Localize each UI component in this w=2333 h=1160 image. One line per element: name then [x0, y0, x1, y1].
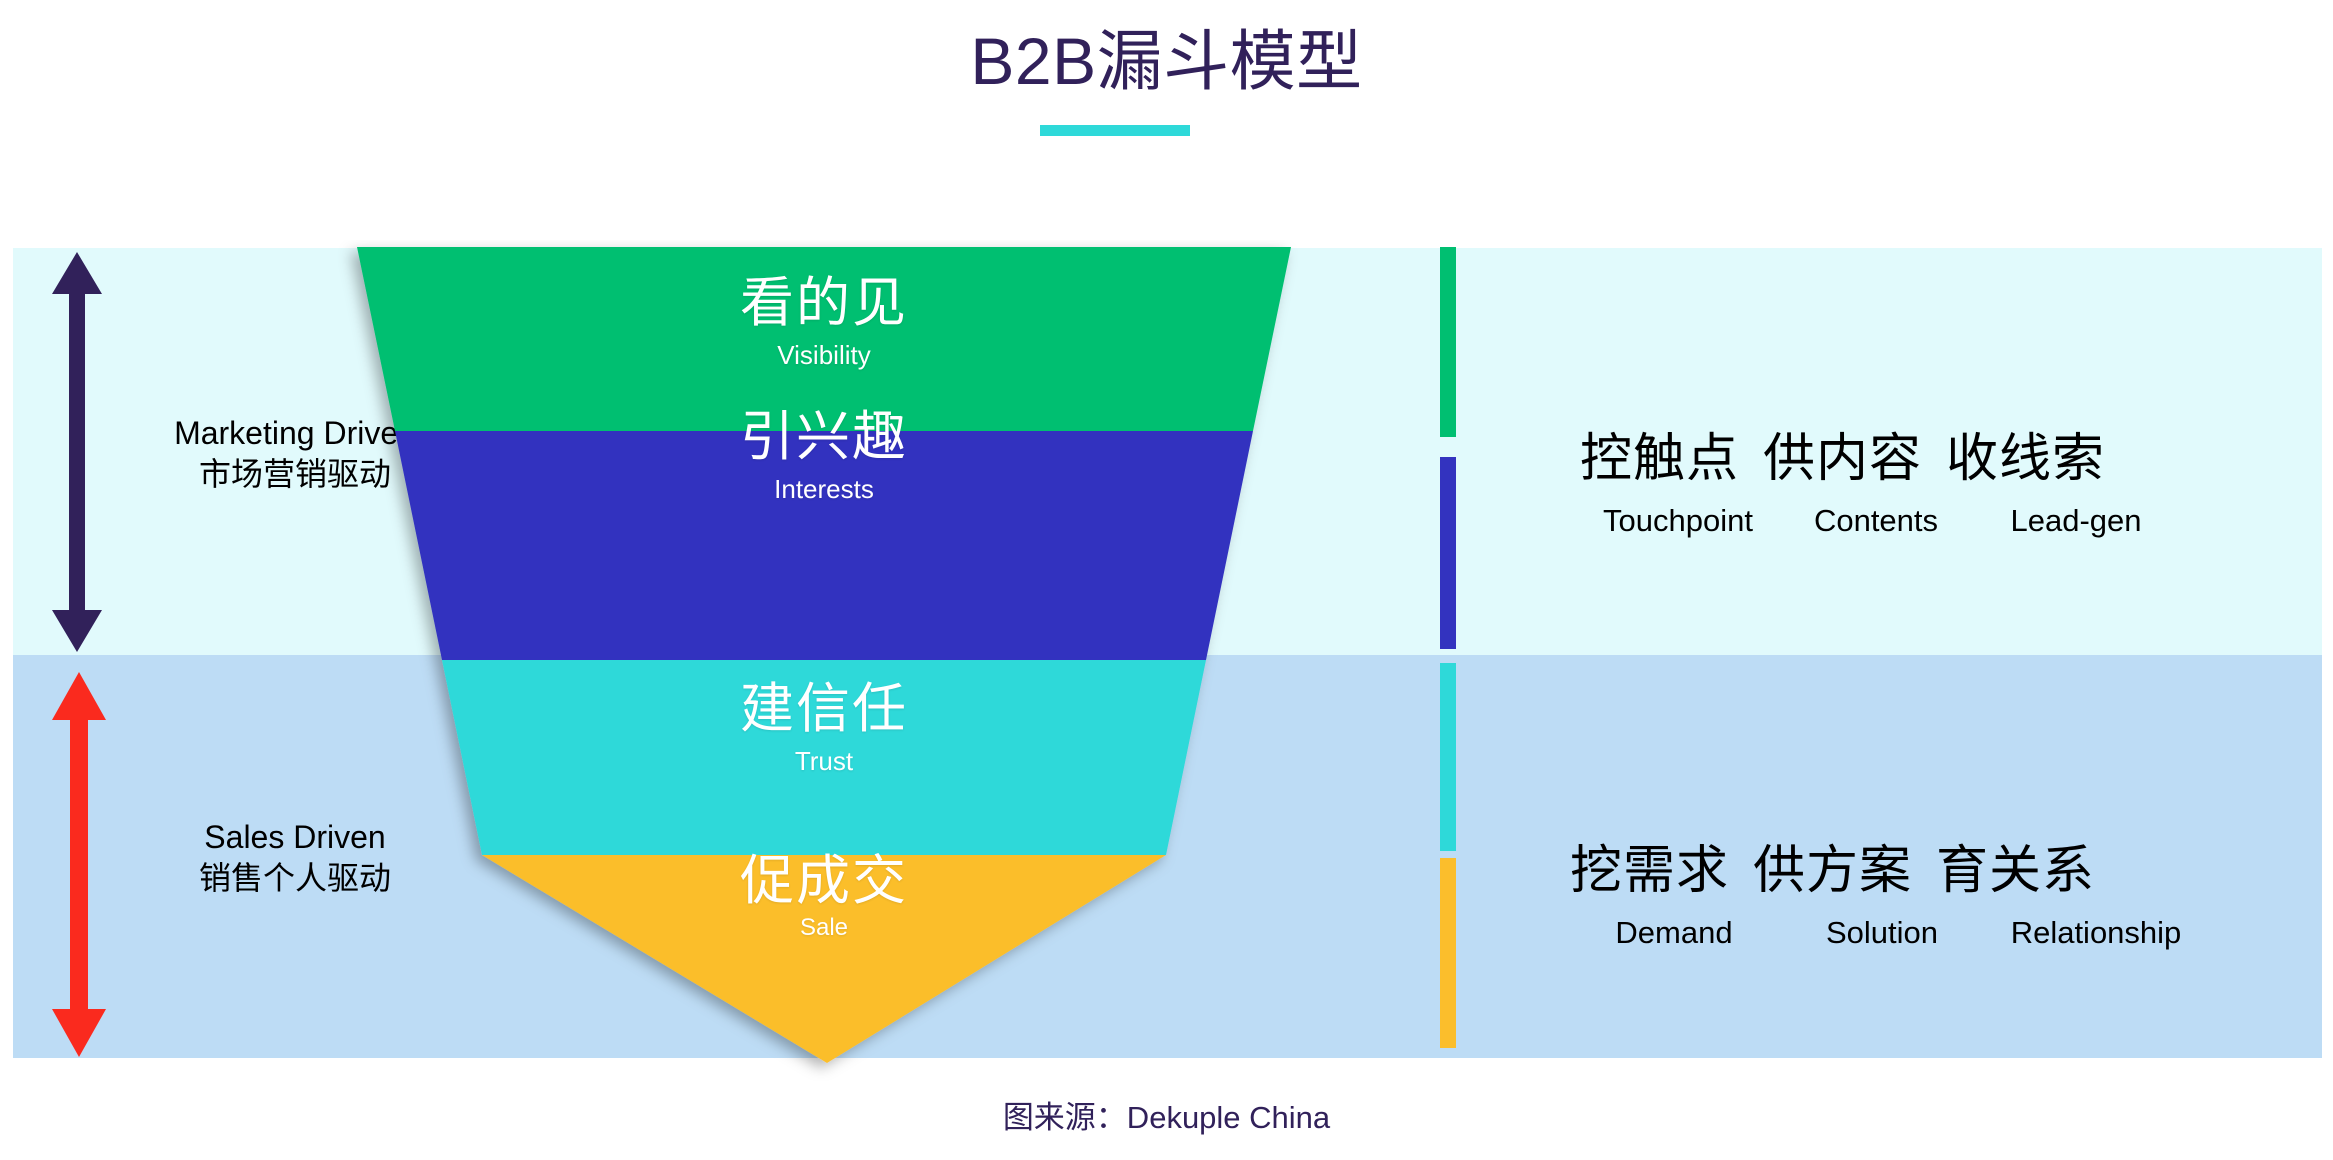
source-caption: 图来源：Dekuple China: [0, 1092, 2333, 1137]
marketing-actions-group: 控触点 供内容 收线索 Touchpoint Contents Lead-gen: [1580, 416, 2280, 539]
funnel-label-interests-en: Interests: [357, 475, 1291, 504]
sales-action-cn-3: 育关系: [1936, 828, 2095, 903]
sales-actions-cn-row: 挖需求 供方案 育关系: [1570, 828, 2290, 903]
color-key-bar-sale: [1440, 858, 1456, 1048]
color-key-bar-visibility: [1440, 247, 1456, 437]
funnel-label-visibility-cn: 看的见: [357, 274, 1291, 333]
funnel-label-sale-en: Sale: [357, 915, 1291, 941]
funnel-label-visibility-en: Visibility: [357, 341, 1291, 370]
color-key-bar-trust: [1440, 663, 1456, 851]
color-key-bar-interests: [1440, 457, 1456, 649]
marketing-actions-en-row: Touchpoint Contents Lead-gen: [1580, 503, 2280, 539]
sales-action-en-1: Demand: [1570, 915, 1778, 951]
page-title: B2B漏斗模型: [0, 8, 2333, 104]
funnel-label-trust-en: Trust: [357, 747, 1291, 776]
marketing-action-en-1: Touchpoint: [1580, 503, 1776, 539]
funnel-diagram-canvas: B2B漏斗模型 Marketing Driven 市场营销驱动 Sales Dr…: [0, 0, 2333, 1160]
title-underline-accent: [1040, 125, 1190, 136]
sales-actions-group: 挖需求 供方案 育关系 Demand Solution Relationship: [1570, 828, 2290, 951]
funnel-label-interests-cn: 引兴趣: [357, 408, 1291, 467]
sales-action-cn-2: 供方案: [1753, 828, 1912, 903]
marketing-actions-cn-row: 控触点 供内容 收线索: [1580, 416, 2280, 491]
sales-actions-en-row: Demand Solution Relationship: [1570, 915, 2290, 951]
marketing-action-cn-3: 收线索: [1946, 416, 2105, 491]
sales-action-cn-1: 挖需求: [1570, 828, 1729, 903]
marketing-action-en-2: Contents: [1776, 503, 1976, 539]
marketing-action-cn-2: 供内容: [1763, 416, 1922, 491]
funnel-label-visibility: 看的见 Visibility: [357, 274, 1291, 370]
funnel-label-trust: 建信任 Trust: [357, 680, 1291, 776]
funnel-label-interests: 引兴趣 Interests: [357, 408, 1291, 504]
marketing-action-cn-1: 控触点: [1580, 416, 1739, 491]
funnel-label-sale-cn: 促成交: [357, 852, 1291, 911]
funnel-label-trust-cn: 建信任: [357, 680, 1291, 739]
funnel-label-sale: 促成交 Sale: [357, 852, 1291, 942]
sales-action-en-2: Solution: [1778, 915, 1986, 951]
sales-action-en-3: Relationship: [1986, 915, 2206, 951]
marketing-action-en-3: Lead-gen: [1976, 503, 2176, 539]
